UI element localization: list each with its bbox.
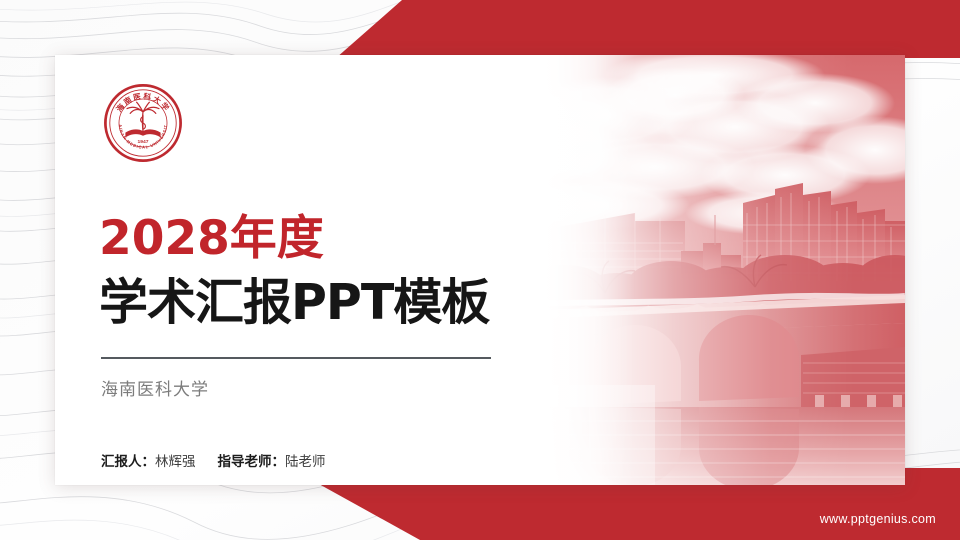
subtitle-university: 海南医科大学 [101, 375, 209, 400]
presenter-label: 汇报人： [101, 454, 155, 470]
university-logo: 1947 海南医科大学 HAINAN MEDICAL UNIVERSITY [103, 83, 183, 163]
advisor-label: 指导老师： [218, 454, 286, 470]
campus-photo [485, 55, 905, 485]
title-main: 学术汇报PPT模板 [99, 278, 489, 327]
presentation-slide: 1947 海南医科大学 HAINAN MEDICAL UNIVERSITY 20… [0, 0, 960, 540]
presenter-name: 林辉强 [155, 454, 196, 470]
slide-card: 1947 海南医科大学 HAINAN MEDICAL UNIVERSITY 20… [55, 55, 905, 485]
site-watermark: www.pptgenius.com [820, 512, 936, 526]
card-content: 1947 海南医科大学 HAINAN MEDICAL UNIVERSITY 20… [55, 55, 525, 485]
presenter-meta: 汇报人：林辉强指导老师：陆老师 [101, 450, 326, 470]
advisor-name: 陆老师 [285, 454, 326, 470]
svg-text:1947: 1947 [137, 139, 148, 145]
title-year: 2028年度 [99, 215, 324, 262]
title-divider [101, 357, 491, 359]
